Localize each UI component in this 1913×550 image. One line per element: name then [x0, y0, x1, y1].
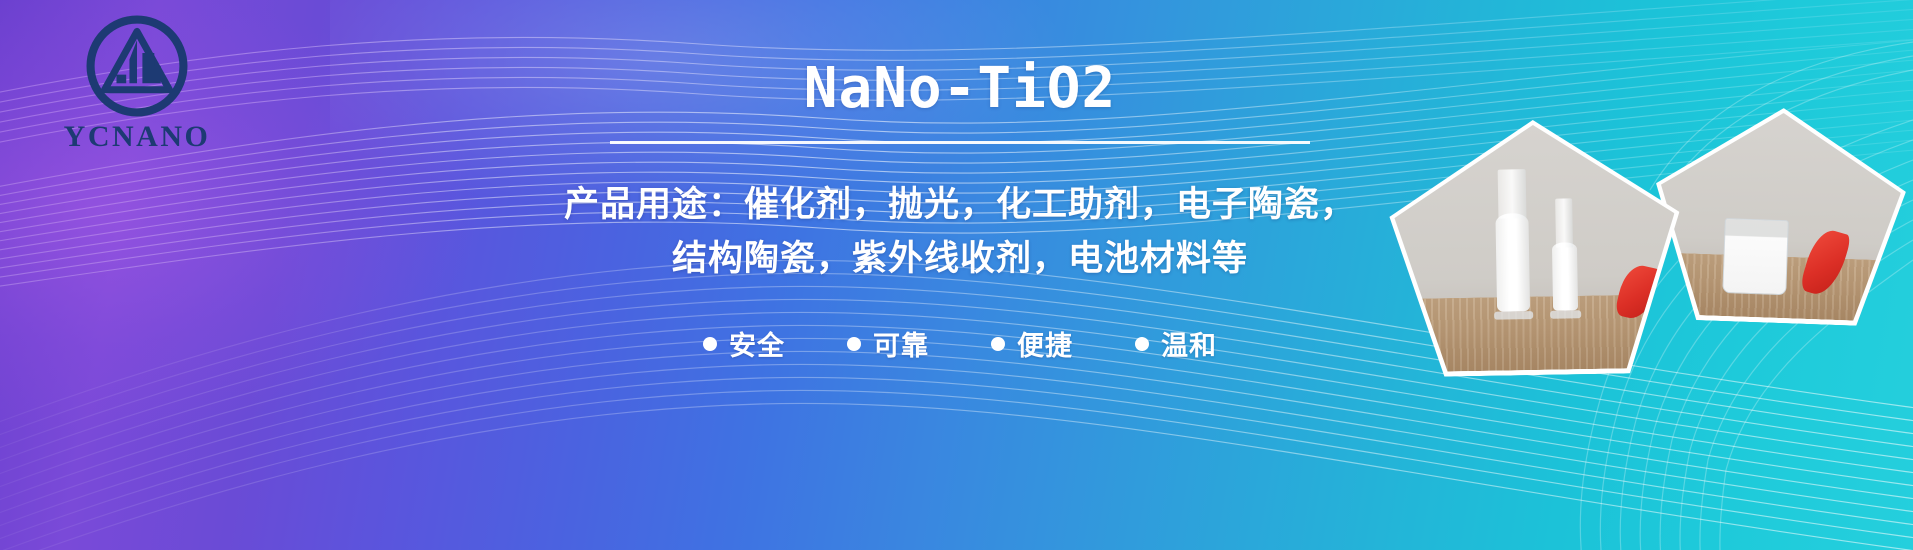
feature-label: 可靠 [873, 324, 929, 363]
small-vase-base [1550, 310, 1581, 318]
product-photo-vases [1388, 117, 1682, 377]
dot-icon [1135, 337, 1149, 351]
dot-icon [991, 337, 1005, 351]
pentagon-image [1656, 109, 1903, 322]
page-title: NaNo-TiO2 [470, 60, 1450, 119]
feature-item-mild: 温和 [1135, 324, 1217, 363]
pentagon-frame [1651, 104, 1908, 328]
vase-neck-glass [1497, 169, 1526, 218]
scene-background [1393, 123, 1677, 373]
brand-logo[interactable]: YCNANO [42, 12, 232, 162]
pentagon-frame [1388, 117, 1682, 377]
vase-base [1494, 311, 1533, 319]
title-divider [610, 141, 1310, 144]
beaker-with-white-suspension [1722, 218, 1789, 296]
ycnano-mountain-circle-logo-icon [83, 12, 191, 120]
feature-label: 便捷 [1017, 324, 1073, 363]
dot-icon [703, 337, 717, 351]
product-description: 产品用途：催化剂，抛光，化工助剂，电子陶瓷， 结构陶瓷，紫外线收剂，电池材料等 [470, 178, 1450, 287]
description-line-1: 产品用途：催化剂，抛光，化工助剂，电子陶瓷， [470, 178, 1450, 232]
product-banner: YCNANO NaNo-TiO2 产品用途：催化剂，抛光，化工助剂，电子陶瓷， … [0, 0, 1913, 550]
hero-content: NaNo-TiO2 产品用途：催化剂，抛光，化工助剂，电子陶瓷， 结构陶瓷，紫外… [470, 60, 1450, 363]
feature-label: 温和 [1161, 324, 1217, 363]
feature-label: 安全 [729, 324, 785, 363]
tall-white-vase [1495, 213, 1530, 312]
pentagon-image [1393, 123, 1677, 373]
feature-item-convenient: 便捷 [991, 324, 1073, 363]
dot-icon [847, 337, 861, 351]
small-white-vase [1552, 242, 1578, 311]
brand-logo-text: YCNANO [42, 122, 232, 152]
small-vase-neck-glass [1555, 198, 1573, 247]
feature-item-reliable: 可靠 [847, 324, 929, 363]
feature-list: 安全 可靠 便捷 温和 [470, 324, 1450, 363]
description-line-2: 结构陶瓷，紫外线收剂，电池材料等 [470, 232, 1450, 286]
feature-item-safe: 安全 [703, 324, 785, 363]
product-photo-beaker [1651, 104, 1908, 328]
